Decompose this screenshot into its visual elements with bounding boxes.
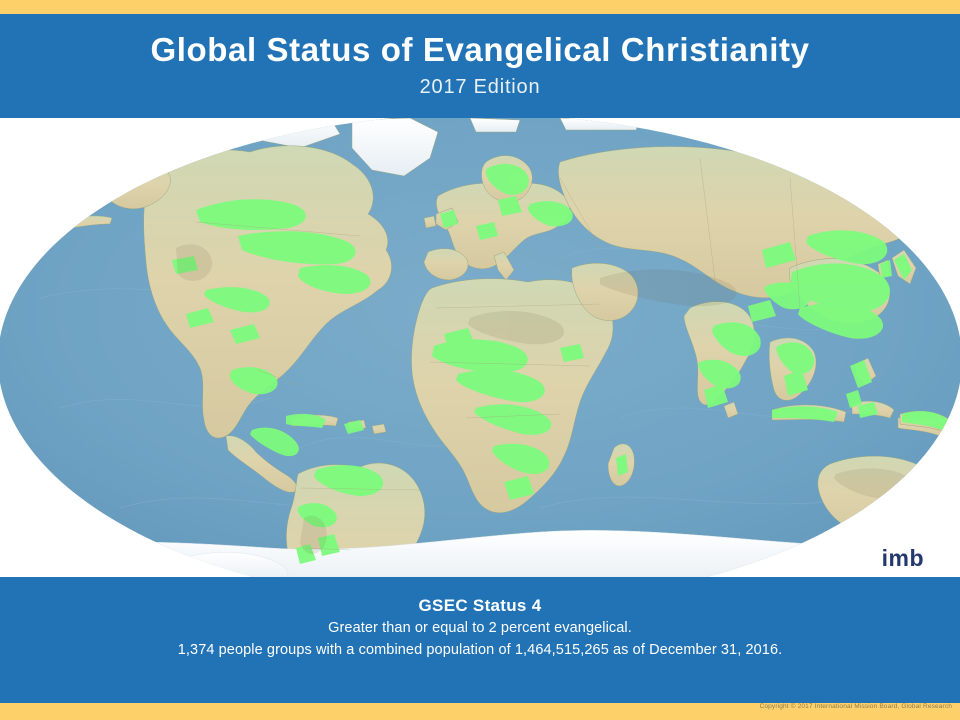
status-description: Greater than or equal to 2 percent evang… — [0, 617, 960, 639]
world-map: imb — [0, 118, 960, 577]
imb-logo: imb — [882, 545, 924, 571]
world-map-graphic — [0, 118, 960, 577]
slide-root: Global Status of Evangelical Christianit… — [0, 0, 960, 720]
header-banner: Global Status of Evangelical Christianit… — [0, 14, 960, 118]
status-title: GSEC Status 4 — [0, 577, 960, 617]
status-statistics: 1,374 people groups with a combined popu… — [0, 639, 960, 661]
page-subtitle: 2017 Edition — [0, 70, 960, 99]
globe-body — [0, 118, 960, 577]
copyright-notice: Copyright © 2017 International Mission B… — [760, 702, 952, 712]
page-title: Global Status of Evangelical Christianit… — [0, 14, 960, 70]
top-accent-strip — [0, 0, 960, 14]
footer-caption: GSEC Status 4 Greater than or equal to 2… — [0, 577, 960, 703]
